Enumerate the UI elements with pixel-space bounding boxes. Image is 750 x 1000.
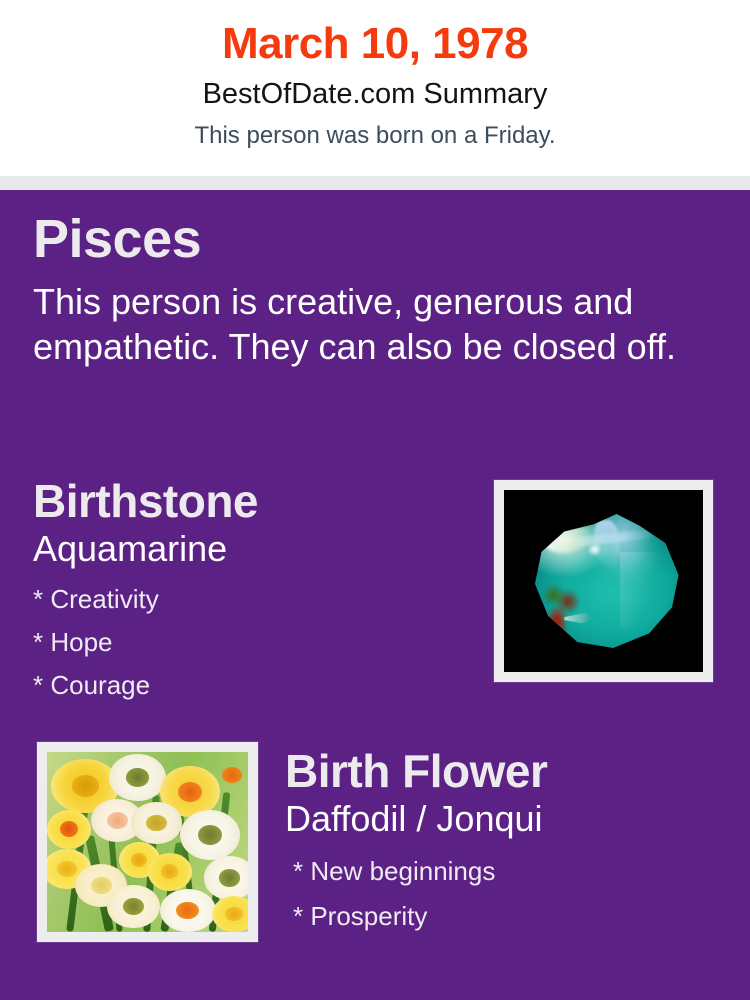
summary-card: March 10, 1978 BestOfDate.com Summary Th… [0, 0, 750, 1000]
birthstone-trait: * Courage [33, 672, 463, 698]
header: March 10, 1978 BestOfDate.com Summary Th… [0, 0, 750, 176]
flower-bloom [204, 856, 248, 899]
birth-flower-image-frame [37, 742, 258, 942]
birthstone-section: Birthstone Aquamarine * Creativity * Hop… [33, 478, 463, 698]
flower-bloom [107, 885, 159, 928]
details-panel: Pisces This person is creative, generous… [0, 190, 750, 1000]
birthstone-heading: Birthstone [33, 478, 463, 524]
header-divider [0, 176, 750, 190]
born-day-note: This person was born on a Friday. [194, 124, 555, 148]
flower-bloom [109, 754, 165, 801]
aquamarine-crystal-icon [522, 508, 685, 654]
birthstone-name: Aquamarine [33, 530, 463, 569]
birth-flower-trait: * New beginnings [293, 858, 715, 884]
birth-flower-image [47, 752, 248, 932]
gem-facet [620, 552, 669, 628]
flower-bloom [180, 810, 240, 860]
gem-highlight [587, 543, 602, 556]
flower-bloom [131, 802, 181, 843]
birthstone-image-frame [494, 480, 713, 682]
birth-flower-name: Daffodil / Jonqui [285, 800, 715, 839]
birth-flower-section: Birth Flower Daffodil / Jonqui * New beg… [285, 748, 715, 929]
site-summary-label: BestOfDate.com Summary [203, 80, 548, 109]
birthstone-image [504, 490, 703, 672]
birth-flower-trait: * Prosperity [293, 903, 715, 929]
zodiac-sign-name: Pisces [33, 212, 713, 266]
page-title: March 10, 1978 [222, 22, 528, 66]
gem-inclusion [535, 610, 571, 645]
birth-flower-heading: Birth Flower [285, 748, 715, 794]
birthstone-trait: * Hope [33, 629, 463, 655]
zodiac-section: Pisces This person is creative, generous… [33, 212, 713, 369]
flower-bloom [148, 853, 192, 891]
birthstone-trait: * Creativity [33, 586, 463, 612]
flower-bloom [47, 810, 91, 850]
zodiac-description: This person is creative, generous and em… [33, 280, 709, 369]
flower-bloom [160, 889, 216, 932]
